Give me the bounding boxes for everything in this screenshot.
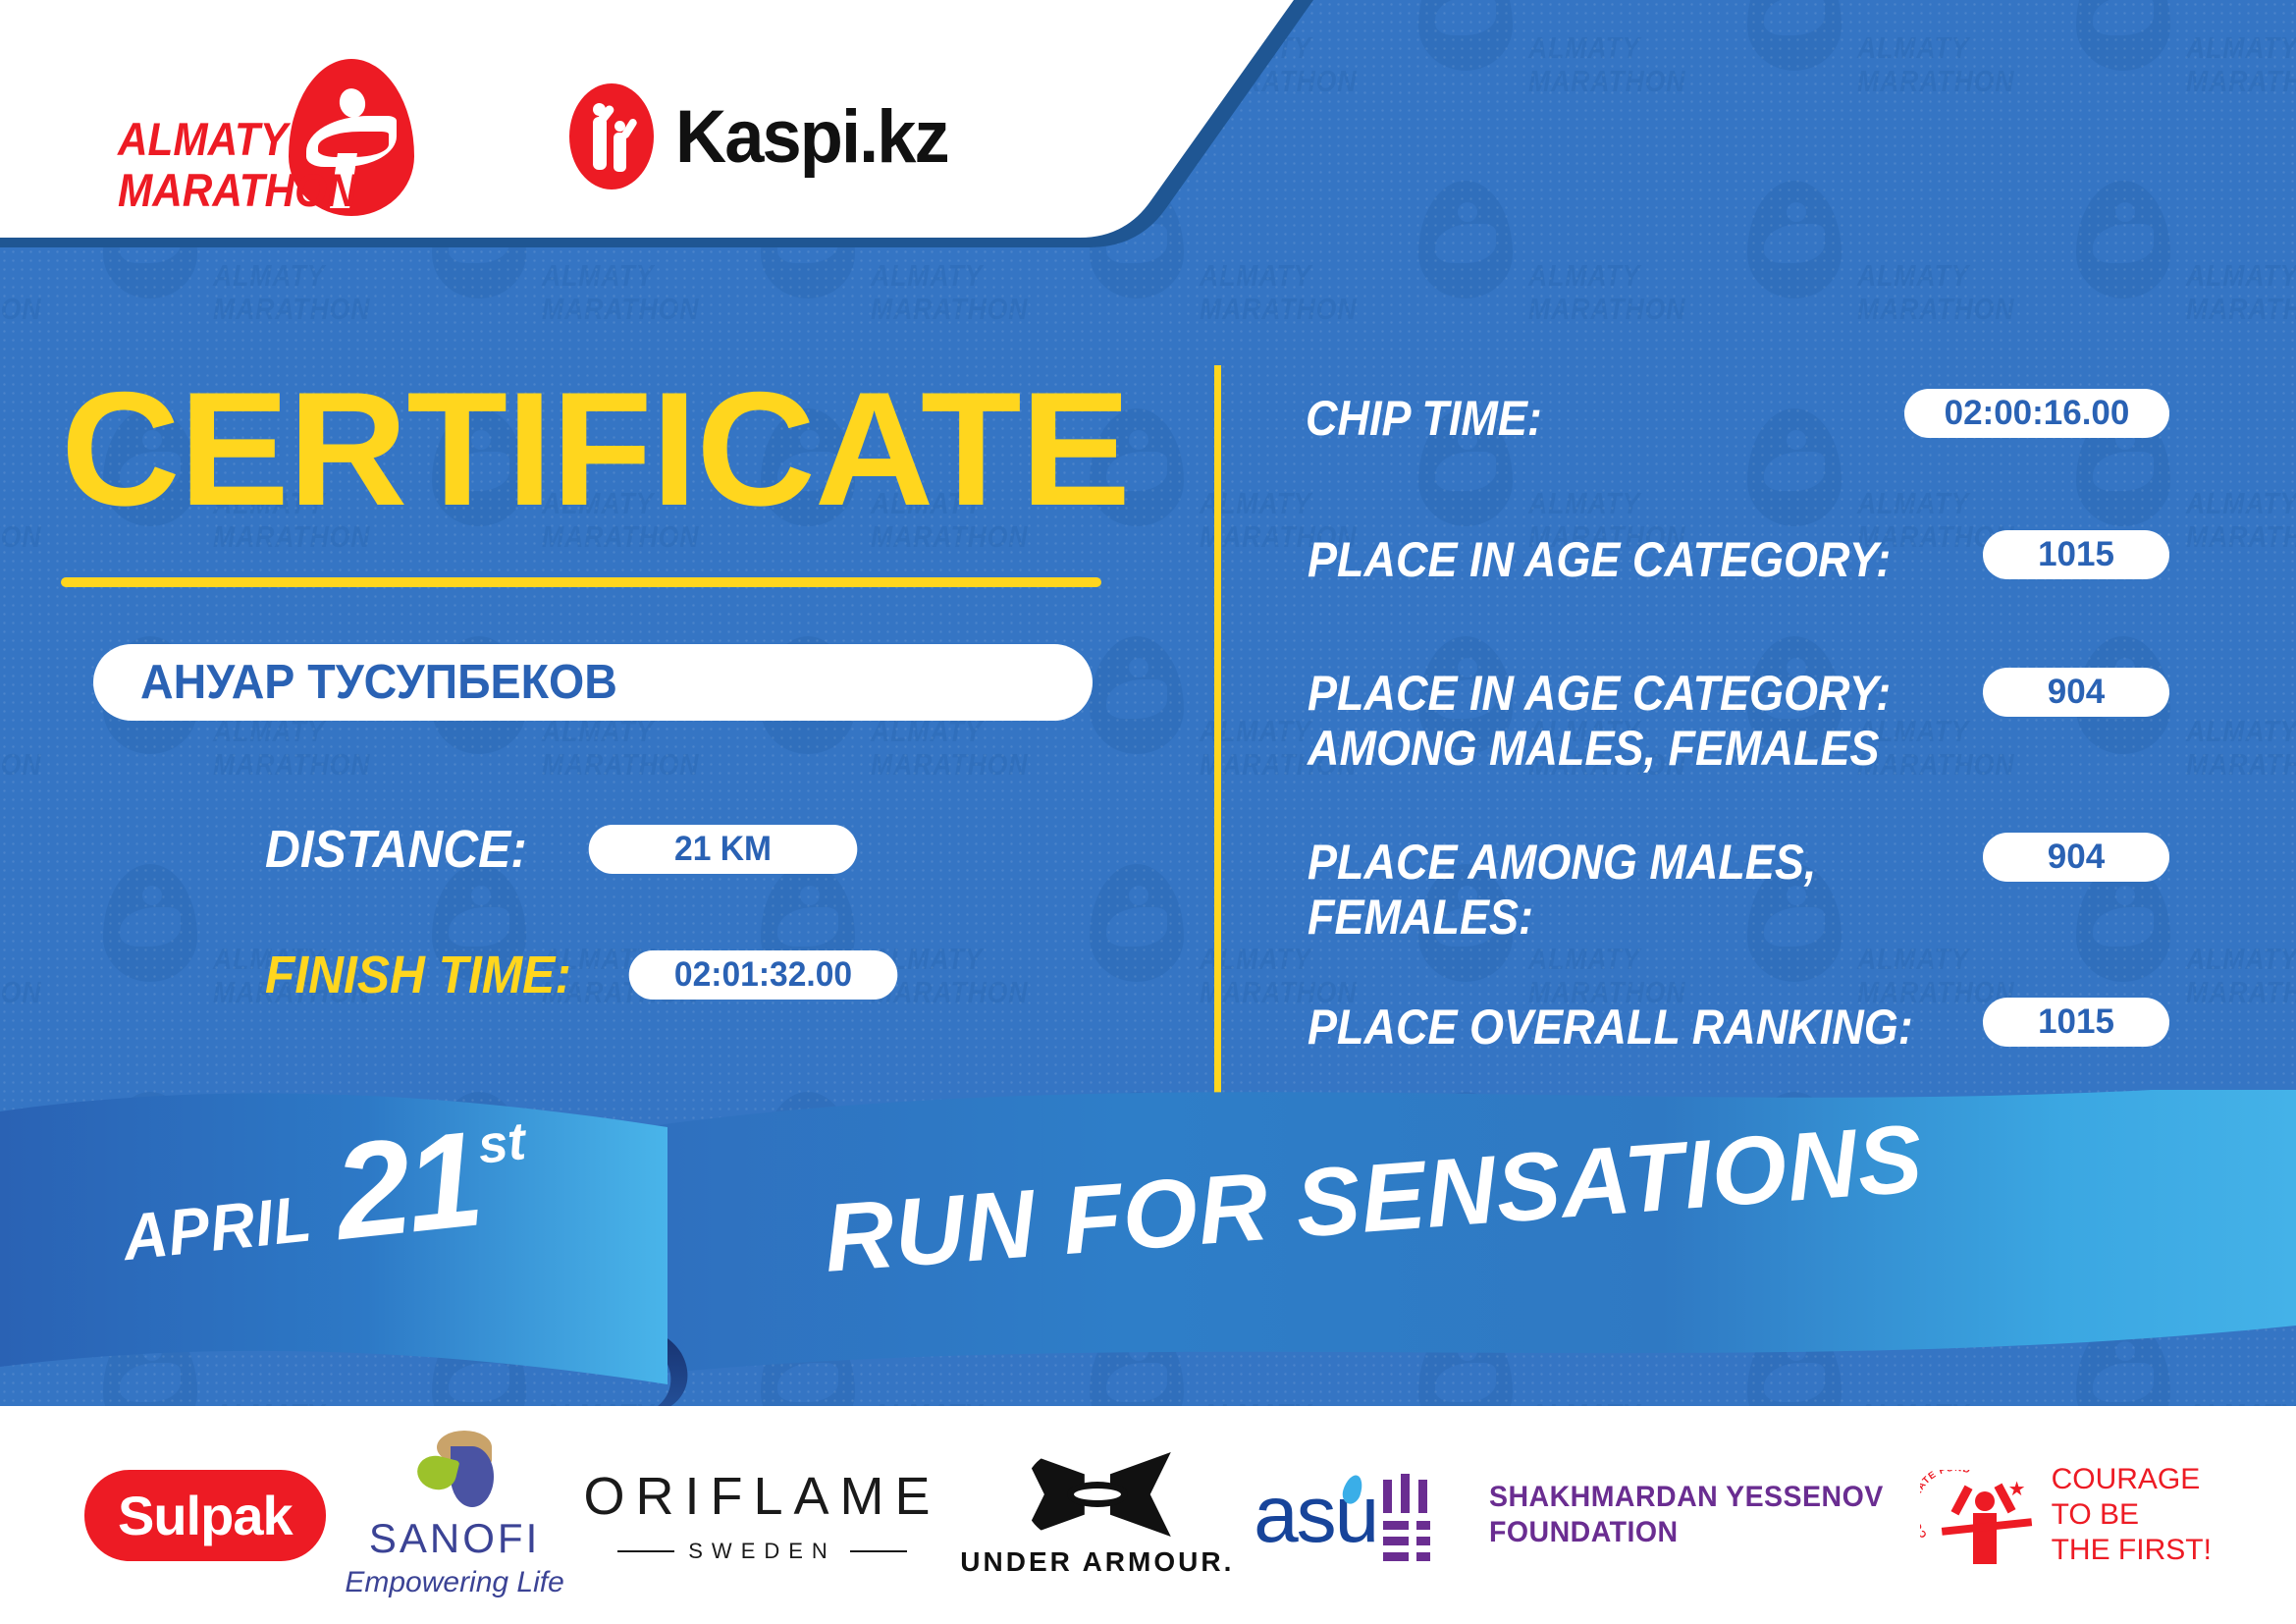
stat-distance: DISTANCE: 21 KM (265, 819, 863, 880)
yessenov-bars-icon (1381, 1474, 1464, 1556)
title-underline (61, 577, 1101, 587)
courage-runner-icon: CORPORATE FUND ★ (1924, 1464, 2034, 1566)
stat-place-age-category: PLACE IN AGE CATEGORY: (1308, 532, 1955, 587)
stat-distance-value: 21 KM (589, 825, 858, 874)
kaspi-wordmark: Kaspi.kz (675, 94, 948, 180)
column-divider (1214, 365, 1221, 1097)
stat-distance-label: DISTANCE: (265, 819, 527, 880)
under-armour-icon (1024, 1452, 1171, 1537)
courage-wordmark: COURAGE TO BE THE FIRST! (2052, 1462, 2212, 1568)
stat-place-overall-ranking: PLACE OVERALL RANKING: (1308, 1000, 1980, 1055)
stat-place-age-category-value: 1015 (1983, 530, 2169, 579)
sanofi-wordmark: SANOFI (345, 1515, 563, 1562)
oriflame-sweden-line: SWEDEN (584, 1539, 941, 1564)
stat-place-among-males-females-label: PLACE AMONG MALES, FEMALES: (1308, 835, 1816, 945)
sponsor-yessenov-foundation: SHAKHMARDAN YESSENOV FOUNDATION (1381, 1474, 1904, 1556)
kaspi-logo: Kaspi.kz (569, 83, 962, 189)
stat-finish-time: FINISH TIME: 02:01:32.00 (265, 945, 903, 1005)
oriflame-rule-left (617, 1550, 674, 1552)
sulpak-wordmark: Sulpak (84, 1470, 326, 1561)
under-armour-wordmark: UNDER ARMOUR. (960, 1546, 1234, 1578)
stat-place-age-category-label: PLACE IN AGE CATEGORY: (1308, 532, 1891, 587)
event-date-day: 21 (330, 1120, 484, 1253)
certificate-canvas: ALMATY MARATHONALMATY MARATHONALMATY MAR… (0, 0, 2296, 1624)
sponsor-oriflame: ORIFLAME SWEDEN (584, 1466, 941, 1564)
event-date-suffix: st (475, 1110, 528, 1176)
almaty-marathon-wordmark: ALMATY MARATHON (118, 114, 357, 216)
sponsor-under-armour: UNDER ARMOUR. (960, 1452, 1234, 1578)
stat-place-overall-ranking-value: 1015 (1983, 998, 2169, 1047)
stat-place-age-category-among-value: 904 (1983, 668, 2169, 717)
sponsor-bar: Sulpak SANOFI Empowering Life ORIFLAME S… (0, 1406, 2296, 1624)
sponsor-courage-fund: CORPORATE FUND ★ COURAGE TO BE THE FIRST… (1924, 1462, 2212, 1568)
sanofi-bird-icon (409, 1431, 500, 1509)
stat-place-age-category-among: PLACE IN AGE CATEGORY: AMONG MALES, FEMA… (1308, 666, 1955, 776)
almaty-marathon-logo: ALMATY MARATHON (118, 53, 442, 220)
page-title: CERTIFICATE (61, 375, 1130, 522)
stat-place-among-males-females: PLACE AMONG MALES, FEMALES: (1308, 835, 1873, 945)
kaspi-people-icon (569, 83, 654, 189)
participant-name-value: АНУАР ТУСУПБЕКОВ (140, 655, 617, 710)
stat-chip-time-value: 02:00:16.00 (1904, 389, 2169, 438)
sponsor-sulpak: Sulpak (84, 1470, 326, 1561)
stat-finish-time-value: 02:01:32.00 (629, 950, 898, 1000)
stat-place-age-category-among-label: PLACE IN AGE CATEGORY: AMONG MALES, FEMA… (1308, 666, 1891, 776)
yessenov-wordmark: SHAKHMARDAN YESSENOV FOUNDATION (1489, 1480, 1884, 1550)
stat-chip-time: CHIP TIME: (1306, 391, 1569, 446)
oriflame-rule-right (850, 1550, 907, 1552)
participant-name-field: АНУАР ТУСУПБЕКОВ (93, 644, 1093, 721)
sponsor-sanofi: SANOFI Empowering Life (345, 1431, 563, 1599)
sponsor-asu: asu (1254, 1469, 1362, 1561)
stat-place-overall-ranking-label: PLACE OVERALL RANKING: (1308, 1000, 1913, 1055)
stat-finish-time-label: FINISH TIME: (265, 945, 571, 1005)
oriflame-sweden-label: SWEDEN (688, 1539, 836, 1564)
oriflame-wordmark: ORIFLAME (584, 1466, 941, 1527)
stat-place-among-males-females-value: 904 (1983, 833, 2169, 882)
header-logos: ALMATY MARATHON Kaspi.kz (0, 0, 1129, 273)
sanofi-tagline: Empowering Life (345, 1566, 563, 1599)
stat-chip-time-label: CHIP TIME: (1306, 391, 1542, 446)
